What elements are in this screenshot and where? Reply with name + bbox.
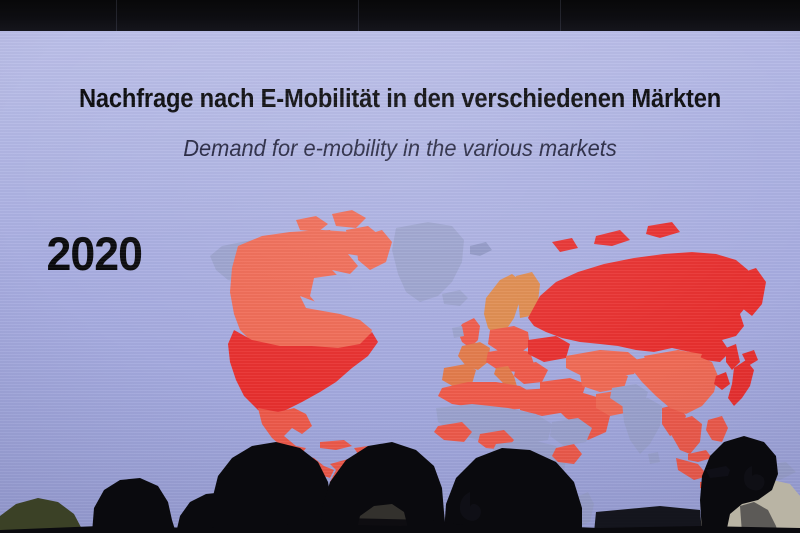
- region-indochina: [672, 416, 702, 454]
- slide-year-label: 2020: [47, 226, 143, 281]
- region-sri-lanka: [648, 452, 660, 464]
- region-borneo: [710, 456, 740, 476]
- region-russia-arctic-isle-2: [646, 222, 680, 238]
- region-canada-arctic-2: [332, 210, 366, 228]
- presentation-photo-scene: Nachfrage nach E-Mobilität in den versch…: [0, 0, 800, 533]
- region-java: [700, 480, 734, 490]
- region-iceland: [442, 290, 468, 306]
- region-russia-arctic-isle-3: [552, 238, 578, 252]
- region-canada-arctic-1: [296, 216, 328, 232]
- region-norway-sweden: [484, 274, 522, 336]
- region-russia-arctic-isle-1: [594, 230, 630, 246]
- region-mexico: [258, 408, 312, 456]
- region-sumatra: [676, 458, 708, 480]
- region-ireland: [452, 326, 464, 338]
- ceiling-seam: [116, 0, 117, 31]
- region-india: [622, 398, 662, 454]
- region-australia: [706, 486, 794, 533]
- slide-subtitle: Demand for e-mobility in the various mar…: [20, 135, 780, 162]
- ceiling-seam: [358, 0, 359, 31]
- projection-screen: Nachfrage nach E-Mobilität in den versch…: [0, 30, 800, 533]
- region-greenland: [392, 222, 464, 302]
- region-svalbard: [470, 242, 492, 256]
- slide-title: Nachfrage nach E-Mobilität in den versch…: [28, 85, 772, 114]
- ceiling-band: [0, 0, 800, 31]
- map-landmasses: [210, 210, 796, 533]
- hudson-bay: [310, 274, 352, 310]
- region-ukraine: [528, 336, 570, 362]
- region-new-guinea: [756, 462, 796, 480]
- region-sulawesi: [738, 458, 756, 476]
- region-philippines: [706, 416, 728, 442]
- region-cuba: [320, 440, 352, 450]
- region-caribbean-isles: [374, 448, 386, 458]
- region-central-america: [298, 454, 334, 478]
- region-hispaniola: [354, 446, 372, 454]
- region-madagascar: [572, 492, 594, 526]
- ceiling-seam: [560, 0, 561, 31]
